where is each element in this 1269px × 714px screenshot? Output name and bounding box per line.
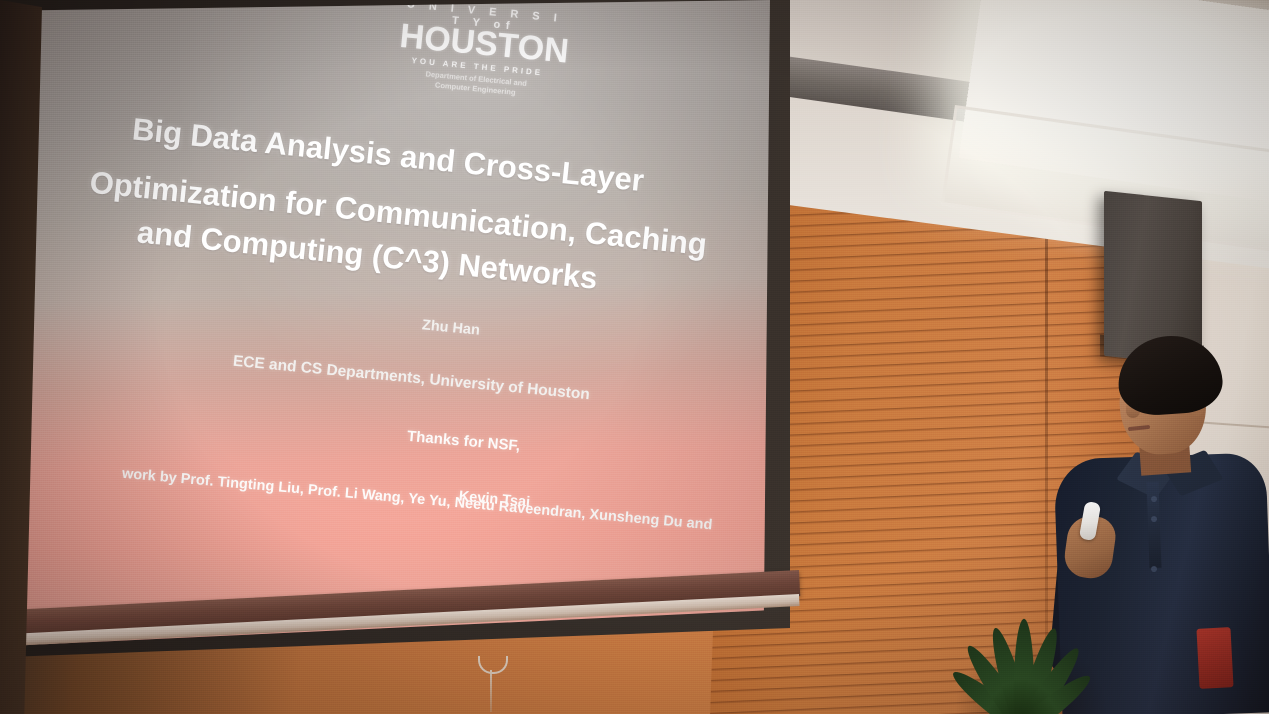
slide-title: Big Data Analysis and Cross-Layer Optimi… bbox=[20, 86, 769, 107]
author-name: Zhu Han bbox=[421, 317, 480, 338]
presentation-photo-scene: U N I V E R S I T Y of HOUSTON YOU ARE T… bbox=[0, 0, 1269, 714]
red-object bbox=[1196, 627, 1233, 689]
screen-pull-cord[interactable] bbox=[490, 670, 492, 712]
acknowledgment-line-1: Thanks for NSF, bbox=[406, 428, 520, 455]
presenter-shirt-button-2 bbox=[1151, 516, 1157, 522]
potted-plant bbox=[930, 600, 1130, 714]
presenter-hair bbox=[1115, 332, 1224, 417]
acknowledgment-line-2: work by Prof. Tingting Liu, Prof. Li Wan… bbox=[121, 466, 713, 534]
screen-pull-ring-icon[interactable] bbox=[478, 656, 508, 674]
slide-author-block: Zhu Han ECE and CS Departments, Universi… bbox=[20, 307, 776, 328]
projection-screen: U N I V E R S I T Y of HOUSTON YOU ARE T… bbox=[0, 0, 790, 714]
projected-slide: U N I V E R S I T Y of HOUSTON YOU ARE T… bbox=[20, 0, 776, 648]
author-affiliation: ECE and CS Departments, University of Ho… bbox=[232, 353, 590, 405]
presenter-shirt-button-3 bbox=[1151, 566, 1157, 572]
slide-content: U N I V E R S I T Y of HOUSTON YOU ARE T… bbox=[20, 0, 776, 648]
slide-acknowledgment-block: Thanks for NSF, work by Prof. Tingting L… bbox=[23, 417, 776, 438]
presenter-shirt-button-1 bbox=[1151, 496, 1157, 502]
uh-logo: U N I V E R S I T Y of HOUSTON YOU ARE T… bbox=[395, 0, 563, 101]
